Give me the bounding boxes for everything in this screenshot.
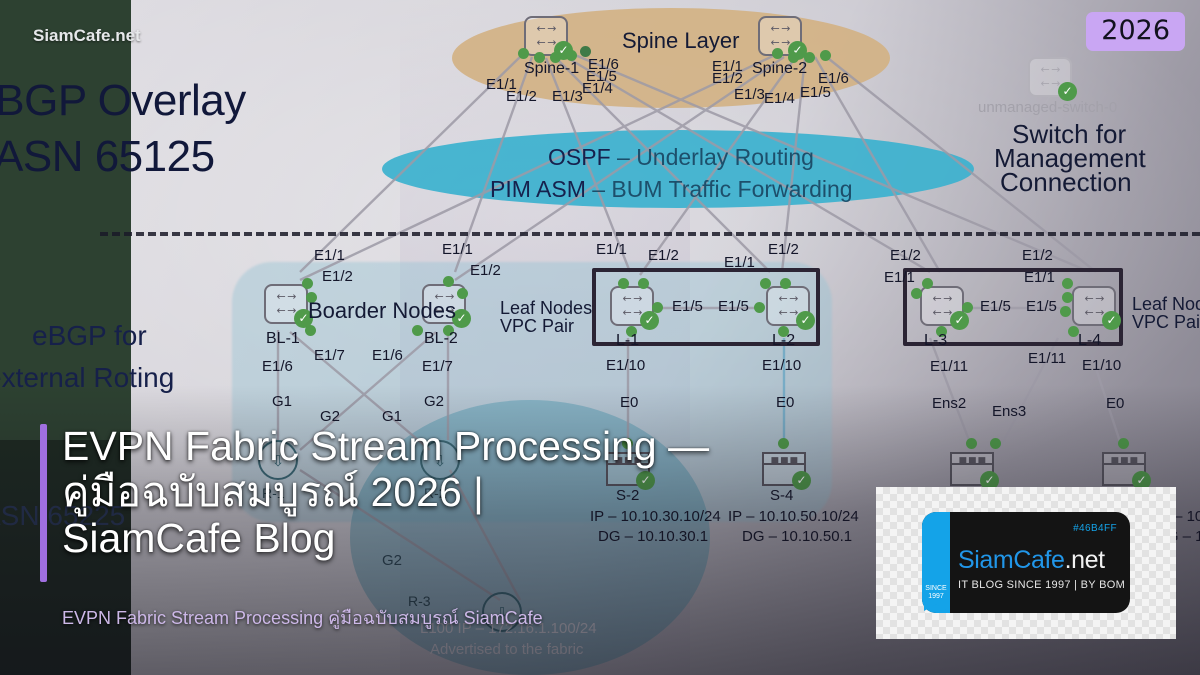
port-dot	[772, 48, 783, 59]
port-dot	[911, 288, 922, 299]
page-title-line-1: EVPN Fabric Stream Processing —	[62, 424, 860, 470]
watermark-text: SiamCafe.net	[33, 26, 141, 46]
port-label-bl2-e1-6: E1/6	[372, 347, 403, 364]
port-label-l3-e1-2: E1/2	[890, 247, 921, 264]
since-ribbon-line1: SINCE	[924, 585, 948, 593]
status-check-icon: ✓	[950, 311, 969, 330]
port-dot	[1062, 278, 1073, 289]
node-label-l-4: L-4	[1078, 332, 1101, 350]
title-overlay: EVPN Fabric Stream Processing — คู่มือฉบ…	[40, 424, 860, 562]
status-check-icon: ✓	[1102, 311, 1121, 330]
port-label-bl1-e1-1: E1/1	[314, 247, 345, 264]
page-title: EVPN Fabric Stream Processing — คู่มือฉบ…	[62, 424, 860, 562]
pim-bold: PIM ASM	[490, 176, 586, 202]
port-label-bl1-e1-2: E1/2	[322, 268, 353, 285]
port-dot	[1060, 306, 1071, 317]
ibgp-overlay-label-line1: iBGP Overlay	[0, 78, 246, 124]
spine-layer-label: Spine Layer	[622, 28, 739, 54]
switch-icon-l-3[interactable]: ← → ← → ✓	[920, 286, 964, 326]
port-label-l2-e1-1: E1/1	[724, 254, 755, 271]
port-label-l1-e1-10: E1/10	[606, 357, 645, 374]
since-ribbon-icon: SINCE 1997	[924, 581, 948, 611]
fabric-boundary-dashed-line	[100, 232, 1200, 236]
page-title-line-2: คู่มือฉบับสมบูรณ์ 2026 |	[62, 470, 860, 516]
switch-icon-bl-1[interactable]: ← → ← → ✓	[264, 284, 308, 324]
node-label-spine-1: Spine-1	[524, 60, 579, 78]
port-dot	[457, 288, 468, 299]
port-label-spine2-e1-2: E1/2	[712, 70, 743, 87]
port-label-l4-e1-5: E1/5	[1026, 298, 1057, 315]
ospf-rest: – Underlay Routing	[617, 144, 814, 170]
page-title-line-3: SiamCafe Blog	[62, 516, 860, 562]
switch-arrows-top: ← →	[271, 292, 301, 301]
logo-inner-panel: SINCE 1997 #46B4FF SiamCafe.net IT BLOG …	[922, 512, 1130, 613]
pim-rest: – BUM Traffic Forwarding	[592, 176, 852, 202]
port-label-bl2-e1-7: E1/7	[422, 358, 453, 375]
switch-arrows-top: ← →	[531, 24, 561, 33]
switch-icon-unmanaged-switch-0[interactable]: ← → ← → ✓	[1028, 57, 1072, 97]
switch-arrows-top: ← →	[773, 294, 803, 303]
year-badge: 2026	[1086, 12, 1185, 51]
title-accent-bar	[40, 424, 47, 582]
port-label-bl1-e1-7: E1/7	[314, 347, 345, 364]
port-dot	[302, 278, 313, 289]
port-dot	[443, 276, 454, 287]
switch-arrows-top: ← →	[765, 24, 795, 33]
port-label-l2-e1-10: E1/10	[762, 357, 801, 374]
node-label-l-3: L-3	[924, 332, 947, 350]
port-dot	[652, 302, 663, 313]
port-dot	[638, 278, 649, 289]
port-dot	[922, 278, 933, 289]
leaf-pair-right-label-line2: VPC Pair	[1132, 312, 1200, 333]
port-label-l1-e1-2: E1/2	[648, 247, 679, 264]
ebgp-label-line1: eBGP for	[32, 320, 147, 352]
boarder-nodes-label: Boarder Nodes	[308, 298, 456, 324]
siamcafe-logo-card: SINCE 1997 #46B4FF SiamCafe.net IT BLOG …	[876, 487, 1176, 639]
port-label-bl2-e1-1: E1/1	[442, 241, 473, 258]
port-dot	[412, 325, 423, 336]
port-label-l3-e1-5: E1/5	[980, 298, 1011, 315]
switch-icon-l-1[interactable]: ← → ← → ✓	[610, 286, 654, 326]
port-label-l4-e1-1: E1/1	[1024, 269, 1055, 286]
port-label-l2-e1-5: E1/5	[718, 298, 749, 315]
logo-brand-tld: .net	[1065, 546, 1105, 574]
logo-brand-name: SiamCafe.net	[958, 546, 1105, 575]
ospf-bold: OSPF	[548, 144, 611, 170]
switch-arrows-top: ← →	[1079, 294, 1109, 303]
node-label-bl-1: BL-1	[266, 330, 300, 348]
page-subtitle: EVPN Fabric Stream Processing คู่มือฉบับ…	[62, 603, 543, 632]
status-check-icon: ✓	[796, 311, 815, 330]
switch-arrows-top: ← →	[617, 294, 647, 303]
since-ribbon-line2: 1997	[924, 593, 948, 601]
switch-icon-l-4[interactable]: ← → ← → ✓	[1072, 286, 1116, 326]
port-dot	[618, 278, 629, 289]
node-label-bl-2: BL-2	[424, 330, 458, 348]
node-label-l-1: L-1	[616, 332, 639, 350]
port-label-bl2-e1-2: E1/2	[470, 262, 501, 279]
port-label-spine2-e1-6: E1/6	[818, 70, 849, 87]
port-dot	[518, 48, 529, 59]
port-label-spine1-e1-2: E1/2	[506, 88, 537, 105]
node-label-unmanaged-switch-0: unmanaged-switch-0	[978, 99, 1117, 116]
port-dot	[305, 325, 316, 336]
port-label-spine2-e1-3: E1/3	[734, 86, 765, 103]
port-dot	[754, 302, 765, 313]
status-check-icon: ✓	[640, 311, 659, 330]
leaf-pair-left-label-line2: VPC Pair	[500, 316, 574, 337]
screenshot-root: ← → ← → ✓ ← → ← → ✓ Spine Layer Spine-1 …	[0, 0, 1200, 675]
port-dot	[1062, 292, 1073, 303]
port-dot	[820, 50, 831, 61]
port-label-l1-e1-5: E1/5	[672, 298, 703, 315]
port-label-spine1-e1-3: E1/3	[552, 88, 583, 105]
pim-asm-label: PIM ASM – BUM Traffic Forwarding	[490, 176, 853, 203]
ibgp-overlay-label-line2: ASN 65125	[0, 134, 215, 180]
node-label-spine-2: Spine-2	[752, 60, 807, 78]
port-dot	[760, 278, 771, 289]
port-label-spine1-e1-6: E1/6	[588, 56, 619, 73]
logo-brand-main: SiamCafe	[958, 546, 1065, 574]
switch-icon-spine-1[interactable]: ← → ← → ✓	[524, 16, 568, 56]
port-label-l4-e1-11: E1/11	[1028, 350, 1066, 367]
port-label-bl1-e1-6: E1/6	[262, 358, 293, 375]
port-label-l2-e1-2: E1/2	[768, 241, 799, 258]
logo-tagline: IT BLOG SINCE 1997 | BY BOM	[958, 579, 1125, 591]
port-label-l4-e1-10: E1/10	[1082, 357, 1121, 374]
port-label-l1-e1-1: E1/1	[596, 241, 627, 258]
port-dot	[962, 302, 973, 313]
port-label-l3-e1-1: E1/1	[884, 269, 915, 286]
port-dot	[780, 278, 791, 289]
port-label-l3-e1-11: E1/11	[930, 358, 968, 375]
logo-blue-stripe: SINCE 1997	[922, 512, 950, 613]
ospf-underlay-label: OSPF – Underlay Routing	[548, 144, 814, 171]
port-label-l4-e1-2: E1/2	[1022, 247, 1053, 264]
port-label-spine2-e1-4: E1/4	[764, 90, 795, 107]
brand-hex-code: #46B4FF	[1073, 523, 1117, 534]
switch-arrows-top: ← →	[1035, 65, 1065, 74]
switch-arrows-top: ← →	[927, 294, 957, 303]
switch-icon-l-2[interactable]: ← → ← → ✓	[766, 286, 810, 326]
mgmt-note-line3: Connection	[1000, 167, 1132, 198]
node-label-l-2: L-2	[772, 332, 795, 350]
